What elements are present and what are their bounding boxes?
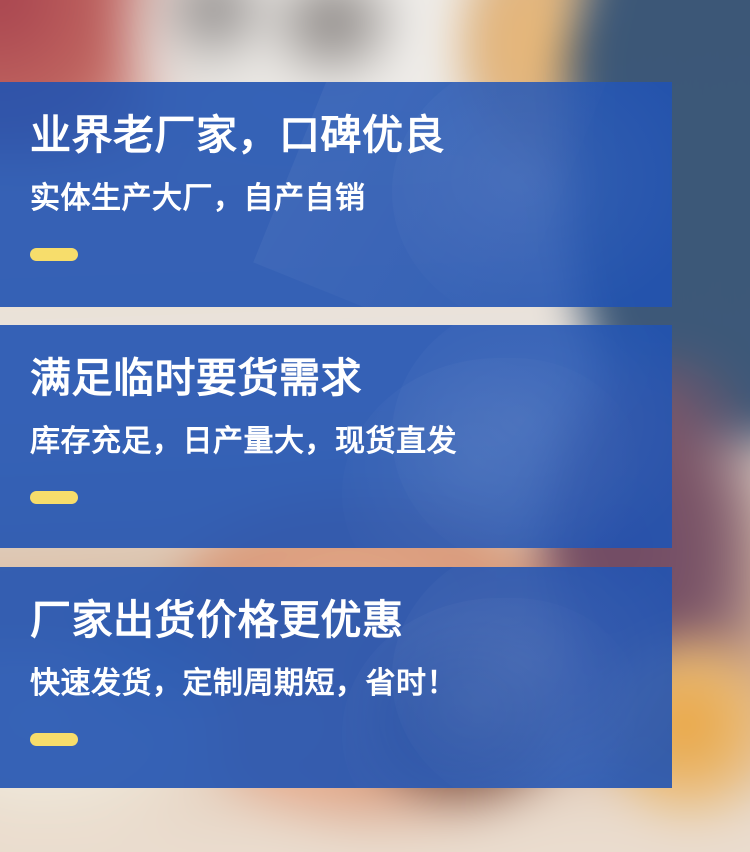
feature-panel-3: 厂家出货价格更优惠 快速发货，定制周期短，省时！ bbox=[0, 567, 672, 788]
panel-1-accent-dash-icon bbox=[30, 248, 78, 261]
panel-2-headline: 满足临时要货需求 bbox=[30, 358, 362, 399]
feature-panel-2: 满足临时要货需求 库存充足，日产量大，现货直发 bbox=[0, 325, 672, 548]
panel-1-content: 业界老厂家，口碑优良 实体生产大厂，自产自销 bbox=[0, 82, 672, 307]
panel-3-content: 厂家出货价格更优惠 快速发货，定制周期短，省时！ bbox=[0, 567, 672, 788]
panel-3-accent-dash-icon bbox=[30, 733, 78, 746]
panel-3-subline: 快速发货，定制周期短，省时！ bbox=[30, 669, 457, 699]
panel-2-accent-dash-icon bbox=[30, 491, 78, 504]
panel-2-subline: 库存充足，日产量大，现货直发 bbox=[30, 427, 457, 457]
panel-1-headline: 业界老厂家，口碑优良 bbox=[30, 115, 445, 156]
promo-poster: 业界老厂家，口碑优良 实体生产大厂，自产自销 满足临时要货需求 库存充足，日产量… bbox=[0, 0, 750, 852]
panel-1-subline: 实体生产大厂，自产自销 bbox=[30, 184, 366, 214]
panel-2-content: 满足临时要货需求 库存充足，日产量大，现货直发 bbox=[0, 325, 672, 548]
panel-3-headline: 厂家出货价格更优惠 bbox=[30, 600, 404, 641]
feature-panel-1: 业界老厂家，口碑优良 实体生产大厂，自产自销 bbox=[0, 82, 672, 307]
